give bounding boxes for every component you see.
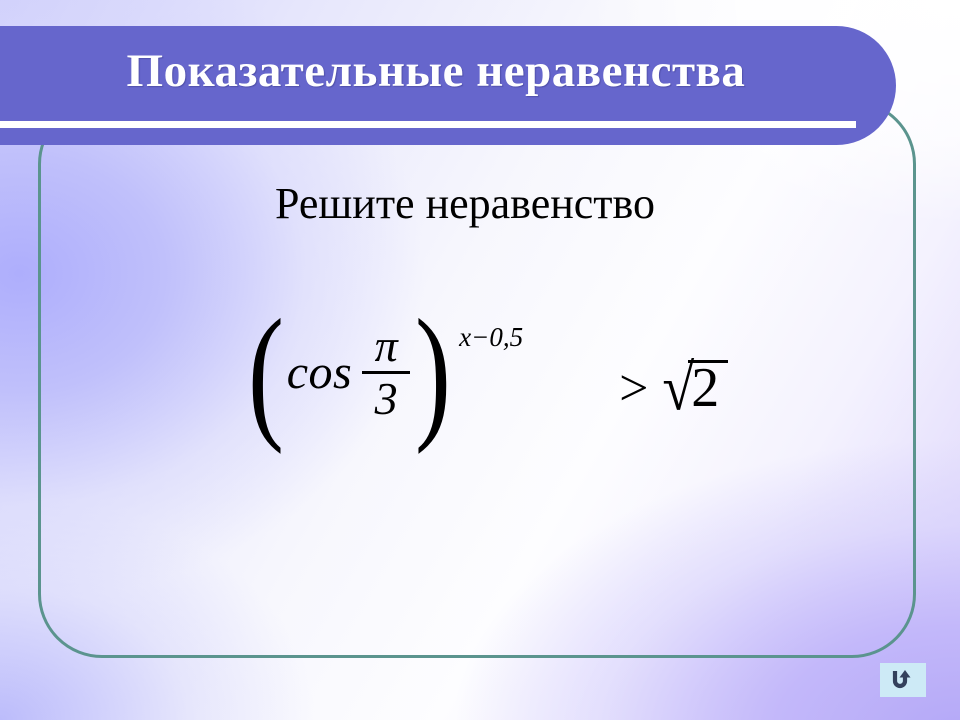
return-arrow-icon xyxy=(890,669,916,691)
title-underline-rule xyxy=(0,121,856,128)
math-formula: ( cos π 3 ) x−0,5 > √ 2 xyxy=(0,318,960,426)
right-paren: ) xyxy=(415,318,451,426)
fraction-numerator: π xyxy=(375,323,398,371)
exponent-expression: x−0,5 xyxy=(459,322,523,353)
page-title: Показательные неравенства xyxy=(0,26,872,116)
fraction-denominator: 3 xyxy=(375,374,398,422)
radical-sign: √ xyxy=(662,356,694,421)
cosine-expression: cos π 3 xyxy=(285,323,412,422)
parenthesized-base: ( cos π 3 ) xyxy=(241,318,458,426)
square-root-of-two: √ 2 xyxy=(662,356,719,420)
return-button[interactable] xyxy=(880,663,926,697)
task-prompt: Решите неравенство xyxy=(0,178,930,229)
greater-than-operator: > xyxy=(619,359,648,418)
radicand-value: 2 xyxy=(691,356,719,420)
radical-vinculum xyxy=(688,360,728,363)
slide-canvas: Показательные неравенства Решите неравен… xyxy=(0,0,960,720)
cos-function-label: cos xyxy=(287,345,352,400)
formula-left-side: ( cos π 3 ) x−0,5 xyxy=(241,318,523,426)
fraction-pi-over-three: π 3 xyxy=(362,323,410,422)
formula-right-side: > √ 2 xyxy=(619,356,719,420)
left-paren: ( xyxy=(248,318,284,426)
